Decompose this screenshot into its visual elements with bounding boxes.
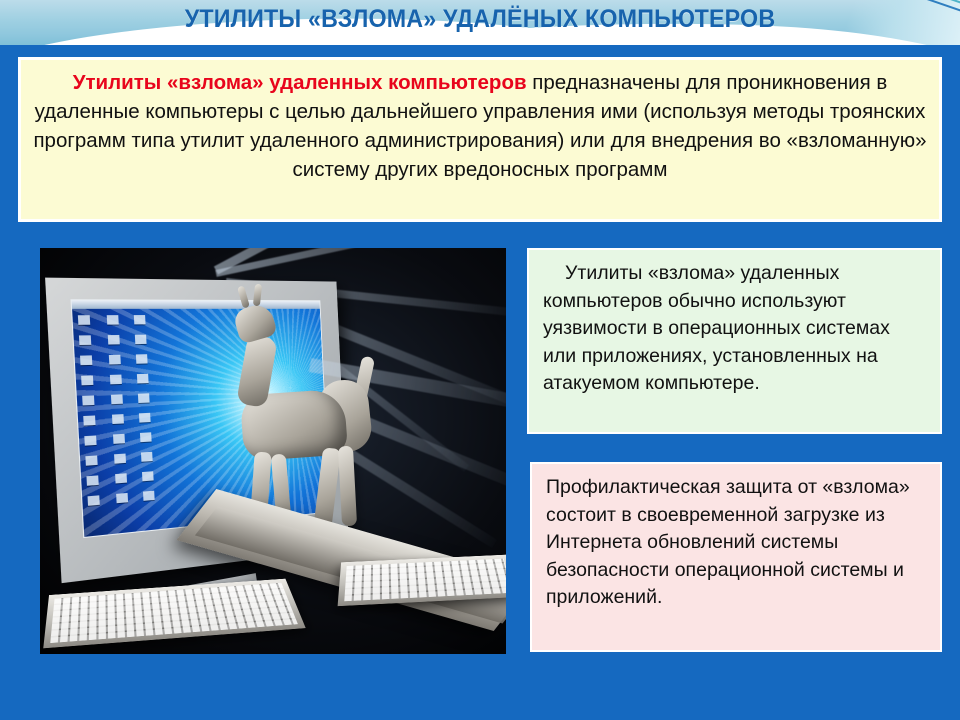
desktop-icon — [143, 491, 155, 501]
page-title: УТИЛИТЫ «ВЗЛОМА» УДАЛЁНЫХ КОМПЬЮТЕРОВ — [34, 0, 927, 38]
desktop-icon — [141, 452, 153, 462]
desktop-icon — [111, 394, 123, 404]
desktop-icon — [106, 315, 118, 324]
desktop-icon — [140, 432, 152, 442]
desktop-icon — [78, 315, 90, 325]
intro-text: Утилиты «взлома» удаленных компьютеров п… — [31, 68, 929, 184]
keyboard-right — [338, 555, 506, 607]
desktop-icon — [107, 335, 119, 345]
horse-leg-rear-right — [338, 446, 357, 527]
desktop-icon — [80, 355, 92, 365]
presentation-slide: УТИЛИТЫ «ВЗЛОМА» УДАЛЁНЫХ КОМПЬЮТЕРОВ Ут… — [0, 0, 960, 720]
horse-ear-right — [253, 284, 262, 307]
desktop-icon — [116, 493, 128, 503]
desktop-icon — [81, 375, 93, 385]
desktop-icon — [138, 393, 150, 403]
desktop-icon — [86, 475, 98, 485]
desktop-icon — [79, 335, 91, 345]
desktop-icon — [88, 495, 100, 505]
keyboard-right-keys — [344, 559, 506, 602]
horse-head — [232, 301, 278, 344]
desktop-icon — [139, 413, 151, 423]
protection-info-box: Профилактическая защита от «взлома» сост… — [530, 462, 942, 652]
desktop-icon — [134, 315, 146, 324]
desktop-icon — [137, 374, 149, 384]
desktop-icons — [78, 315, 170, 527]
desktop-icon — [136, 354, 148, 364]
desktop-icon — [142, 471, 154, 481]
desktop-icon — [114, 454, 126, 464]
intro-lead-phrase: Утилиты «взлома» удаленных компьютеров — [73, 71, 527, 94]
desktop-icon — [84, 435, 96, 445]
usage-info-box: Утилиты «взлома» удаленных компьютеров о… — [527, 248, 942, 434]
horse-ear-left — [237, 285, 250, 308]
desktop-icon — [108, 355, 120, 365]
desktop-icon — [135, 335, 147, 344]
desktop-icon — [115, 473, 127, 483]
intro-text-box: Утилиты «взлома» удаленных компьютеров п… — [18, 57, 942, 222]
desktop-icon — [85, 455, 97, 465]
desktop-icon — [82, 395, 94, 405]
trojan-horse-illustration — [40, 248, 506, 654]
desktop-icon — [112, 414, 124, 424]
desktop-icon — [110, 375, 122, 385]
desktop-icon — [83, 415, 95, 425]
desktop-icon — [113, 434, 125, 444]
